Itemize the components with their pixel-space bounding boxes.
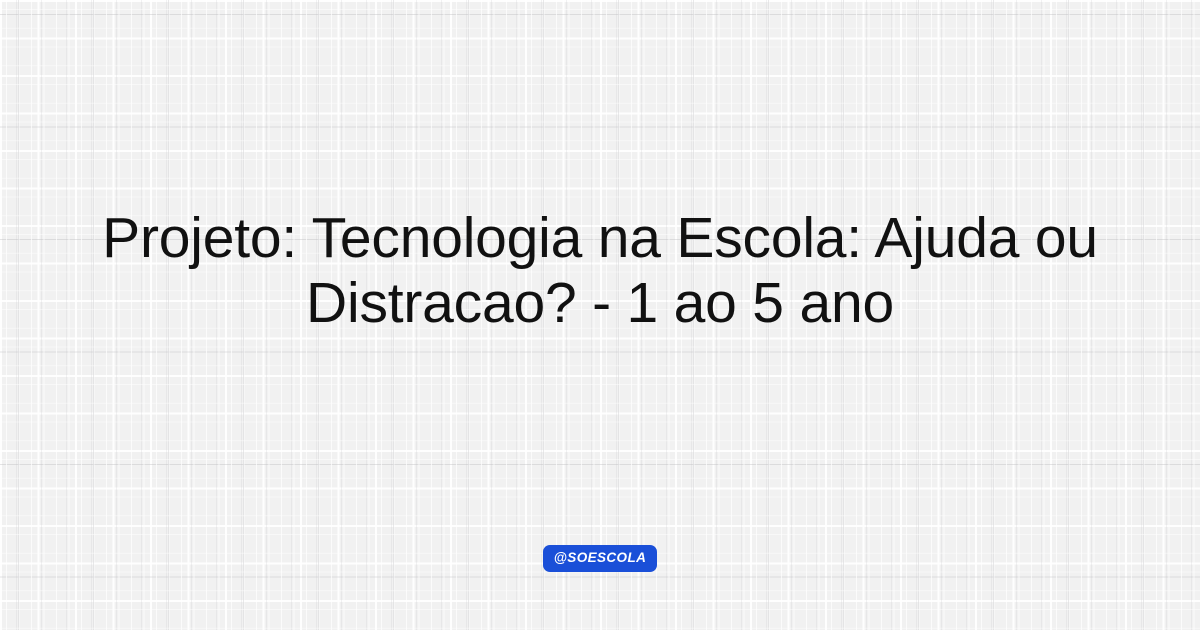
page-title-line-2: Distracao? - 1 ao 5 ano (28, 271, 1172, 336)
poster-canvas: Projeto: Tecnologia na Escola: Ajuda ou … (0, 0, 1200, 630)
watermark-badge: @SOESCOLA (543, 545, 658, 572)
page-title-line-1: Projeto: Tecnologia na Escola: Ajuda ou (28, 206, 1172, 271)
watermark-container: @SOESCOLA (0, 545, 1200, 572)
page-title: Projeto: Tecnologia na Escola: Ajuda ou … (0, 206, 1200, 336)
